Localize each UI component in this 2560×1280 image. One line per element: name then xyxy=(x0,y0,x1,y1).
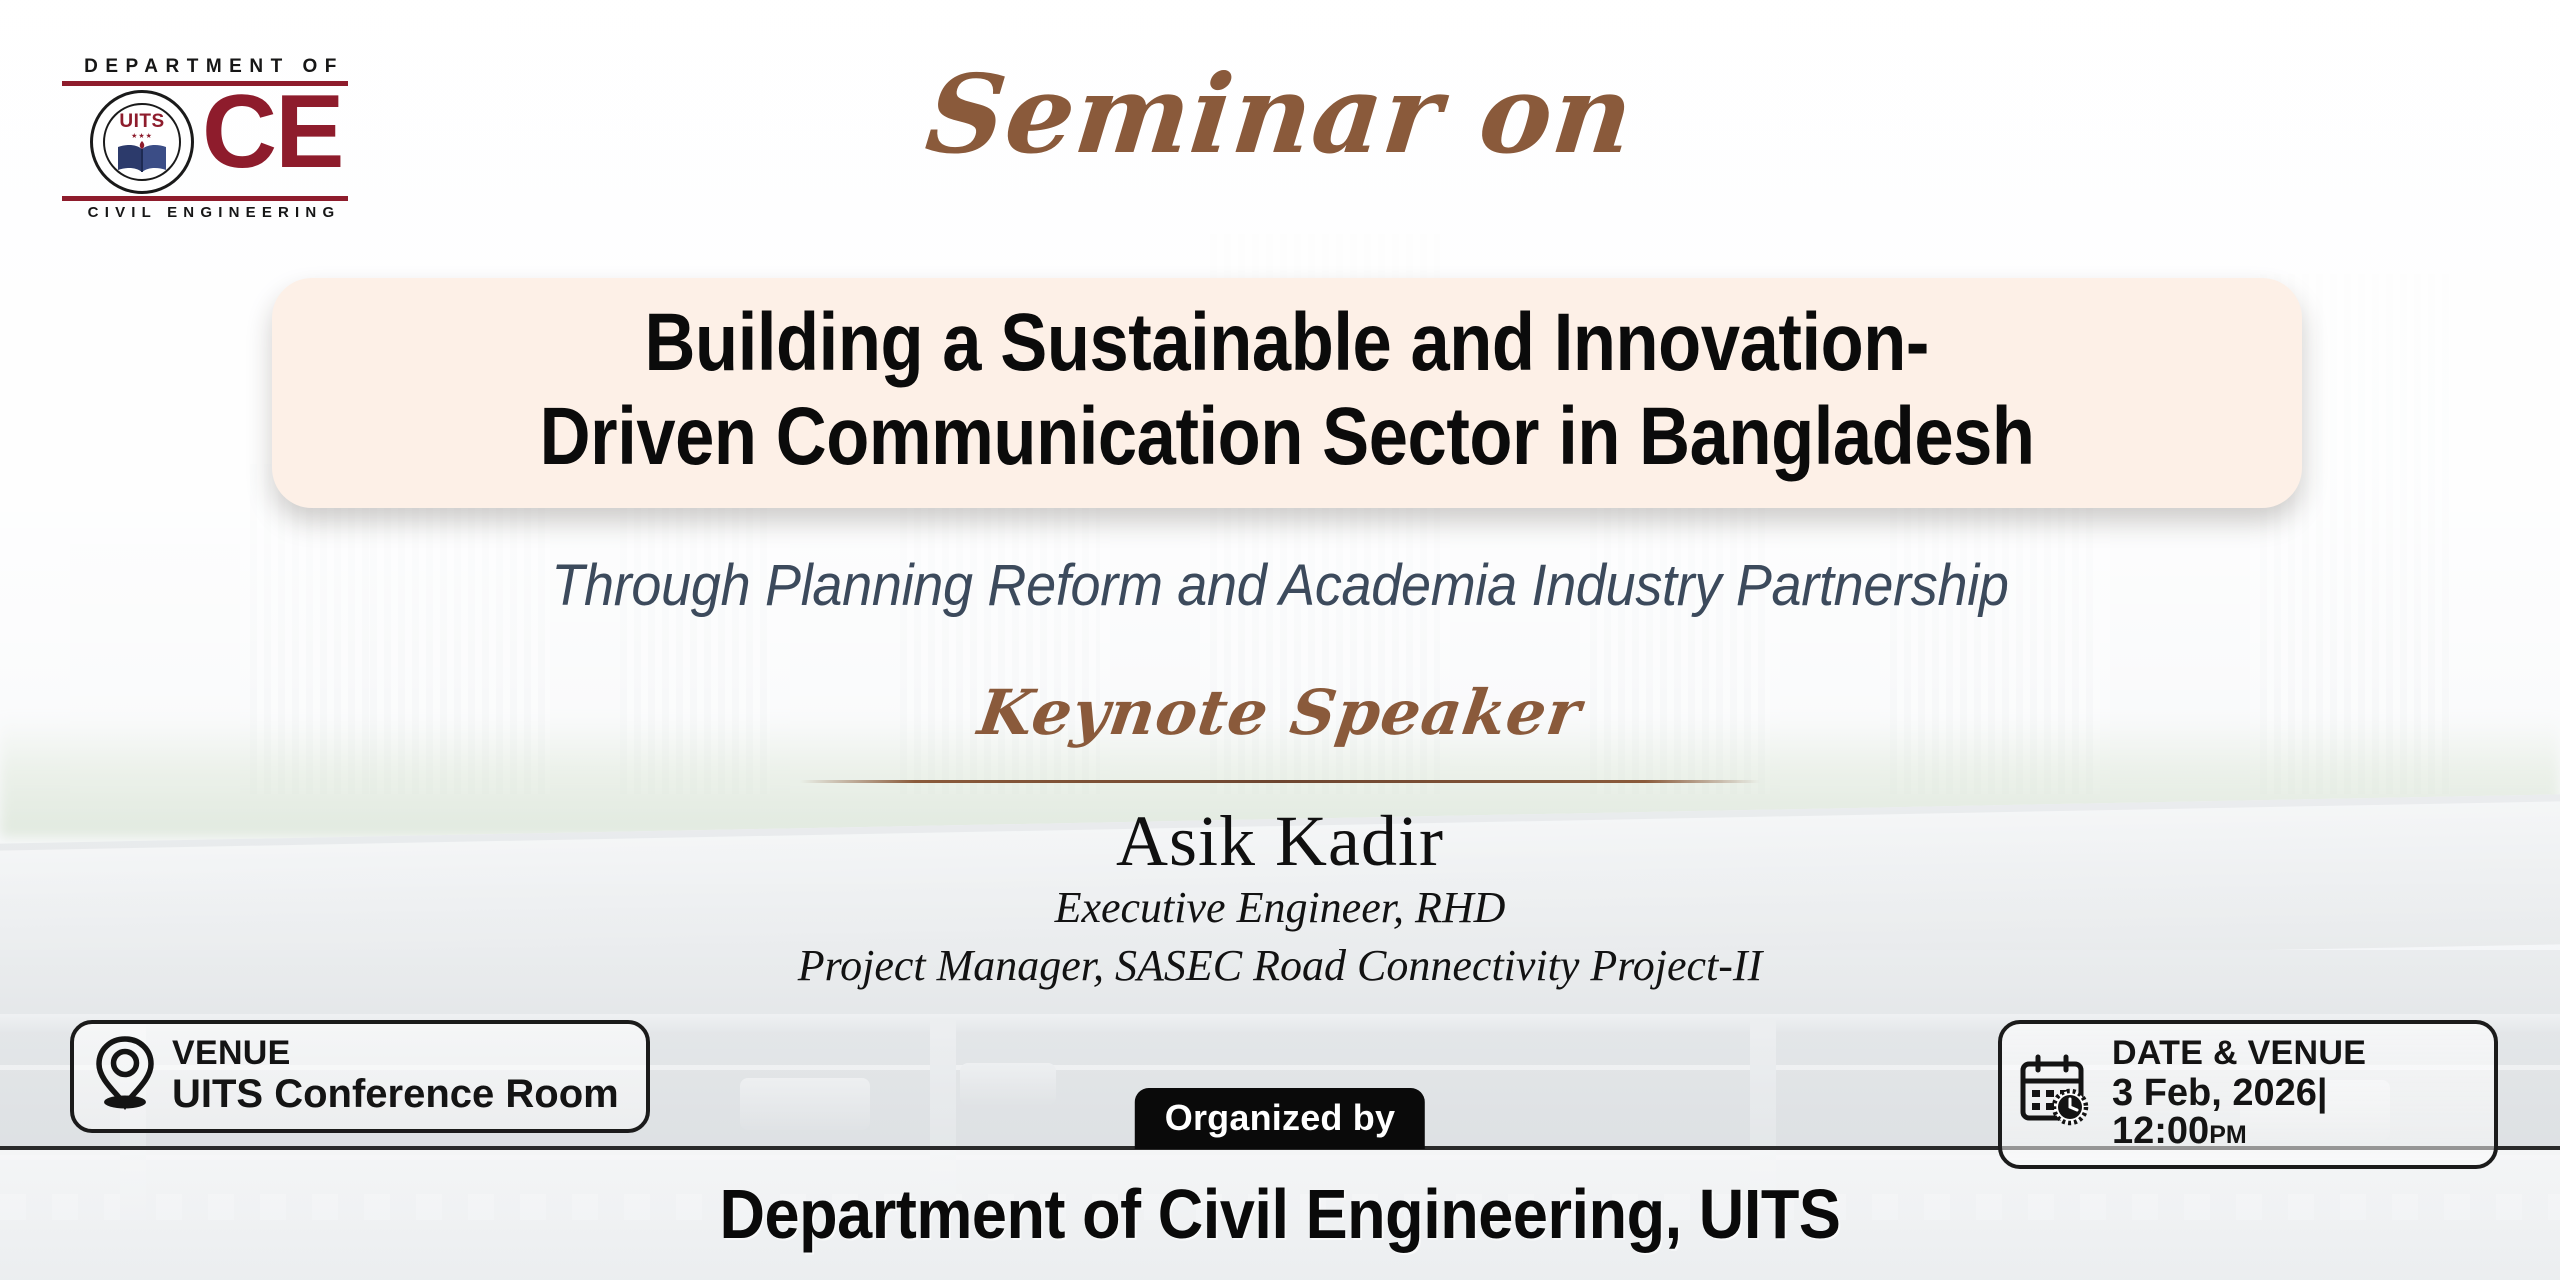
date-pill: DATE & VENUE 3 Feb, 2026| 12:00PM xyxy=(1998,1020,2498,1169)
logo-bottom-label: CIVIL ENGINEERING xyxy=(62,204,362,221)
uits-seal-icon: UITS ★★★ xyxy=(90,90,194,194)
location-pin-icon xyxy=(94,1036,156,1115)
seminar-banner: DEPARTMENT OF UITS ★★★ xyxy=(0,0,2560,1280)
keynote-divider xyxy=(800,780,1760,783)
speaker-role-line-1: Executive Engineer, RHD xyxy=(0,882,2560,933)
date-pill-value: 3 Feb, 2026| 12:00PM xyxy=(2112,1074,2468,1152)
logo-rule-bottom xyxy=(62,196,348,201)
keynote-speaker-script: Keynote Speaker xyxy=(0,676,2560,749)
seminar-subtitle: Through Planning Reform and Academia Ind… xyxy=(90,552,2471,619)
logo-middle-row: UITS ★★★ CE xyxy=(62,86,362,194)
seminar-title-line-2: Driven Communication Sector in Banglades… xyxy=(540,395,2035,479)
seminar-title-card: Building a Sustainable and Innovation- D… xyxy=(272,278,2302,508)
seminar-title-line-1: Building a Sustainable and Innovation- xyxy=(645,301,1929,385)
speaker-name: Asik Kadir xyxy=(0,800,2560,883)
department-logo: DEPARTMENT OF UITS ★★★ xyxy=(62,56,362,221)
logo-ce-abbrev: CE xyxy=(202,80,342,184)
venue-pill: VENUE UITS Conference Room xyxy=(70,1020,650,1133)
speaker-role-line-2: Project Manager, SASEC Road Connectivity… xyxy=(0,940,2560,991)
seal-uits-label: UITS xyxy=(119,112,164,131)
venue-pill-title: VENUE xyxy=(172,1036,619,1071)
organized-by-badge: Organized by xyxy=(1135,1088,1425,1149)
date-pill-ampm: PM xyxy=(2209,1121,2247,1149)
open-book-icon xyxy=(114,141,170,180)
date-pill-title: DATE & VENUE xyxy=(2112,1036,2468,1071)
seal-stars-icon: ★★★ xyxy=(131,132,153,140)
organizer-name: Department of Civil Engineering, UITS xyxy=(128,1174,2432,1254)
calendar-clock-icon xyxy=(2018,1054,2096,1133)
seminar-on-script: Seminar on xyxy=(0,52,2560,178)
venue-pill-value: UITS Conference Room xyxy=(172,1074,619,1115)
